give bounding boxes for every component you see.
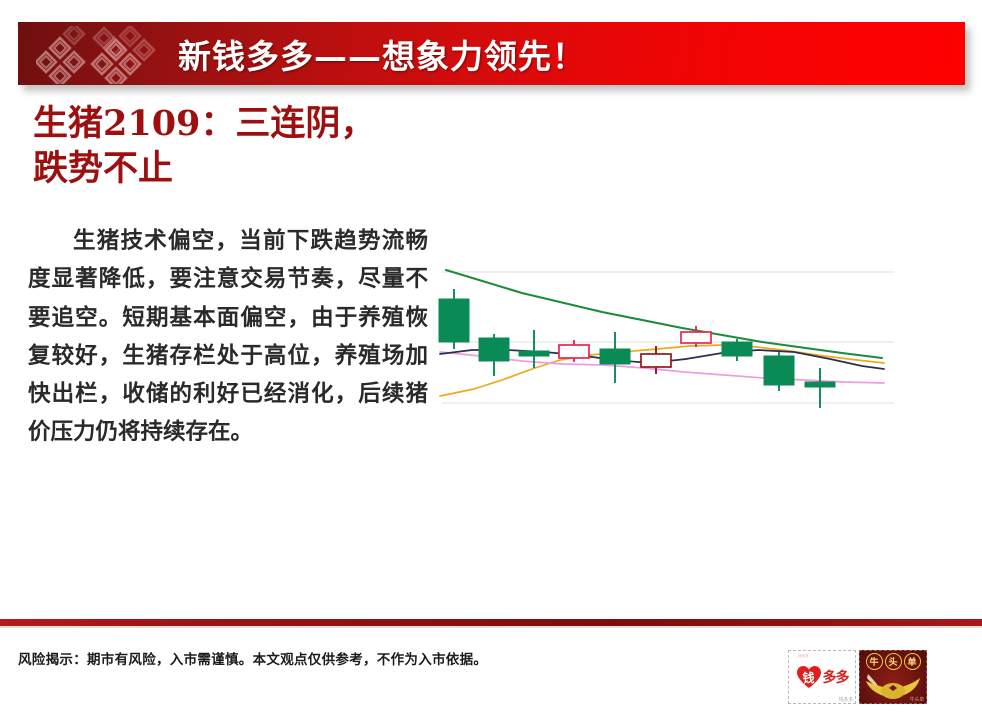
candle-body	[519, 351, 549, 356]
candle-0	[439, 289, 469, 349]
header-banner: 新钱多多——想象力领先！	[18, 22, 965, 85]
candle-body	[600, 349, 630, 364]
header-title: 新钱多多——想象力领先！	[178, 30, 586, 78]
candle-body	[479, 338, 509, 361]
candle-body	[722, 342, 752, 356]
risk-disclaimer: 风险揭示：期市有风险，入市需谨慎。本文观点仅供参考，不作为入市依据。	[18, 648, 758, 668]
candle-body	[764, 356, 794, 385]
candle-4	[600, 332, 630, 383]
niutoudan-tag: 牛头单	[910, 696, 924, 703]
page-title-line-2: 跌势不止	[33, 147, 453, 192]
candle-body	[641, 354, 671, 367]
candle-8	[764, 352, 794, 391]
page-title: 生猪2109：三连阴， 跌势不止	[33, 102, 453, 192]
slide-root: 新钱多多——想象力领先！ 生猪2109：三连阴， 跌势不止 生猪技术偏空，当前下…	[0, 0, 982, 720]
candle-body	[805, 382, 835, 387]
candlestick-chart	[432, 246, 904, 424]
candle-body	[681, 332, 711, 343]
candle-body	[559, 345, 589, 358]
candle-7	[722, 339, 752, 361]
candle-body	[439, 299, 469, 342]
candle-1	[479, 334, 509, 376]
candle-9	[805, 368, 835, 408]
candle-3	[559, 340, 589, 362]
footer-logo-strip: 钱多多 钱 多多 钱多多 牛头单 牛头单	[788, 650, 927, 704]
niutoudan-logo: 牛头单 牛头单	[859, 650, 927, 704]
body-paragraph: 生猪技术偏空，当前下跌趋势流畅度显著降低，要注意交易节奏，尽量不要追空。短期基本…	[28, 222, 428, 452]
heart-icon: 钱	[796, 665, 822, 689]
chinese-knot-lattice-icon	[36, 26, 164, 84]
ma-line-ma_green_trend	[446, 270, 882, 358]
page-title-line-1: 生猪2109：三连阴，	[33, 102, 453, 147]
candlestick-chart-svg	[432, 246, 904, 424]
qianduoduo-logo: 钱多多 钱 多多 钱多多	[788, 650, 856, 704]
qianduoduo-heart-char: 钱	[802, 669, 814, 686]
chart-moving-average-lines	[440, 270, 884, 396]
qianduoduo-text: 多多	[823, 667, 849, 687]
footer-divider	[0, 619, 982, 626]
qianduoduo-tag: 钱多多	[839, 696, 853, 703]
